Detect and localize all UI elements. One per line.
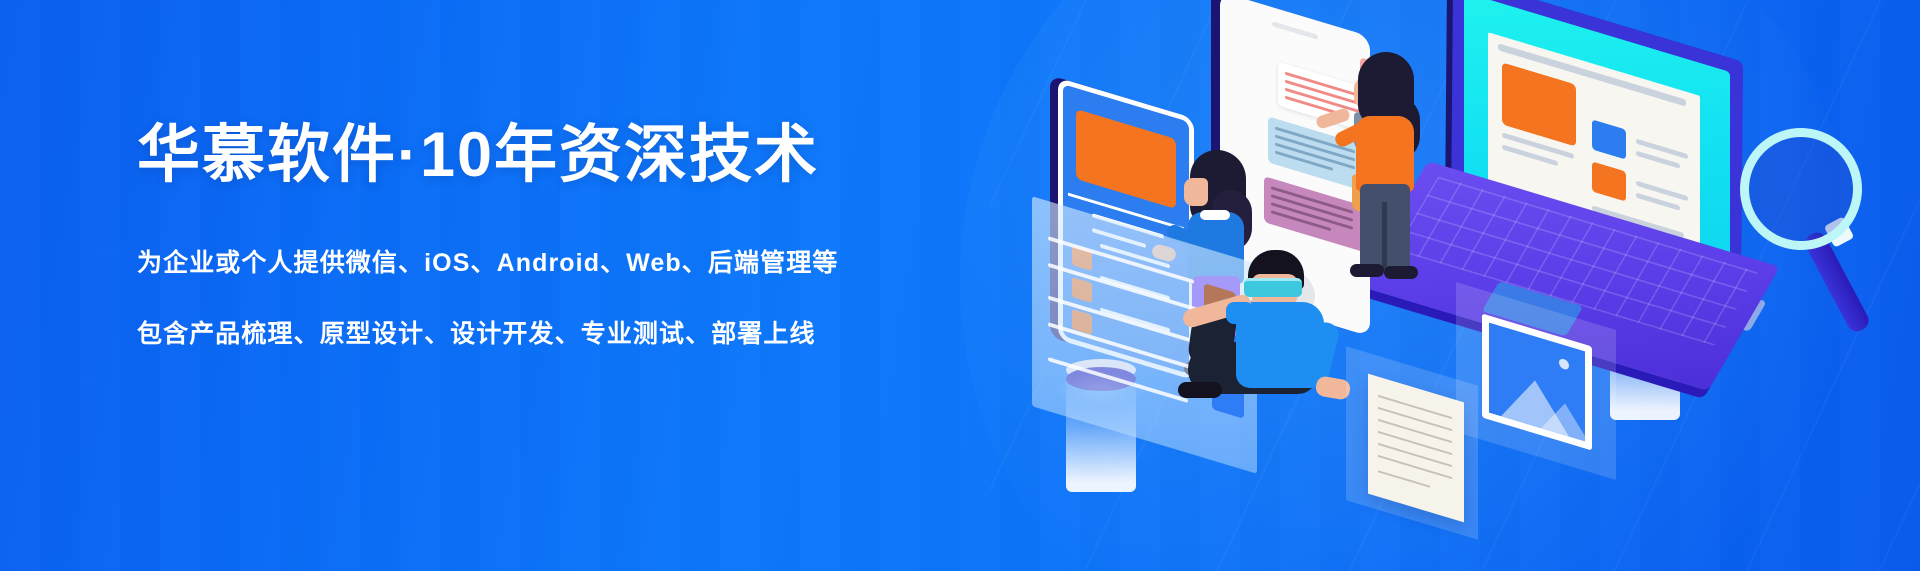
image-sun-icon bbox=[1559, 358, 1569, 371]
subtitle-line-1: 为企业或个人提供微信、iOS、Android、Web、后端管理等 bbox=[137, 251, 897, 276]
hero-subtitle-group: 为企业或个人提供微信、iOS、Android、Web、后端管理等 包含产品梳理、… bbox=[137, 251, 897, 347]
hero-illustration bbox=[1020, 0, 1920, 571]
floating-image-card bbox=[1482, 330, 1632, 500]
image-mountain-icon bbox=[1541, 396, 1589, 442]
content-block-blue bbox=[1592, 119, 1626, 159]
content-block-orange-small bbox=[1592, 161, 1626, 201]
hero-copy: 华慕软件·10年资深技术 为企业或个人提供微信、iOS、Android、Web、… bbox=[137, 120, 897, 347]
person-sleeve bbox=[1226, 302, 1254, 324]
person-shoe bbox=[1178, 382, 1222, 398]
hero-banner: 华慕软件·10年资深技术 为企业或个人提供微信、iOS、Android、Web、… bbox=[0, 0, 1920, 571]
person-designer-orange bbox=[1330, 52, 1460, 282]
person-face bbox=[1184, 178, 1208, 206]
magnifier-icon bbox=[1740, 128, 1910, 328]
person-collar bbox=[1200, 210, 1230, 220]
subtitle-line-2: 包含产品梳理、原型设计、设计开发、专业测试、部署上线 bbox=[137, 322, 897, 347]
content-block-orange-large bbox=[1502, 62, 1576, 146]
page-title: 华慕软件·10年资深技术 bbox=[137, 120, 897, 191]
vr-goggles-icon bbox=[1244, 278, 1302, 297]
magnifier-lens bbox=[1724, 112, 1878, 266]
